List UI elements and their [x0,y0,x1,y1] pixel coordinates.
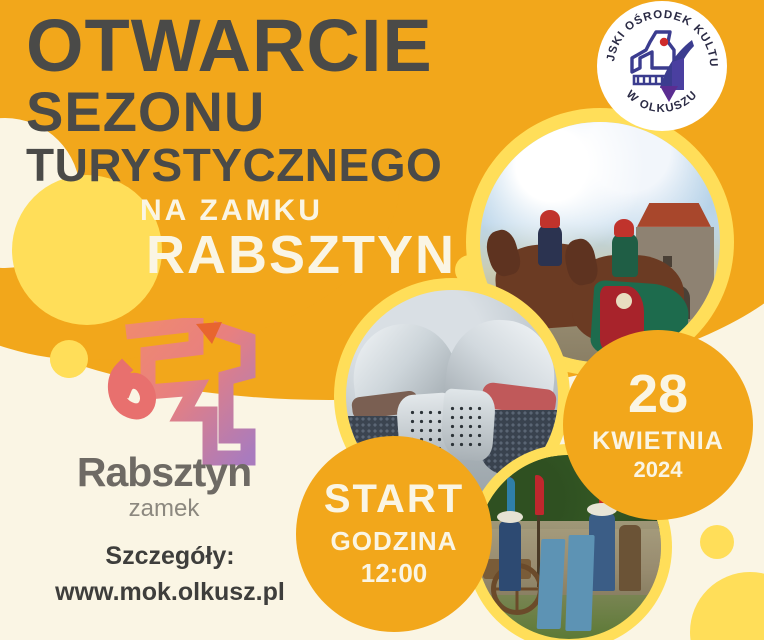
decor-circle-small-left-front [50,340,88,378]
headline-line-2: SEZONU [26,84,265,140]
start-title: START [324,479,464,519]
reenactor-left-icon [499,521,521,591]
rider-right-hat-icon [614,219,634,237]
details-label: Szczegóły: [20,540,320,573]
rider-right-icon [612,233,638,277]
flag-blue-icon [507,477,515,515]
rabsztyn-brand-text: Rabsztyn zamek [36,452,292,524]
details-block: Szczegóły: www.mok.olkusz.pl [20,540,320,608]
flag-red-left-icon [535,475,544,515]
date-day: 28 [628,367,688,421]
start-label: GODZINA [331,525,458,558]
rider-left-hat-icon [540,210,560,228]
reenactor-left-hat-icon [497,511,523,523]
rider-left-icon [538,224,562,266]
mok-castle-emblem-icon [626,28,698,104]
date-year: 2024 [634,457,683,483]
headline-line-1: OTWARCIE [26,10,433,83]
details-url[interactable]: www.mok.olkusz.pl [20,576,320,609]
date-month: KWIETNIA [592,425,724,458]
headline-line-3: TURYSTYCZNEGO [26,142,442,188]
headline-line-5: RABSZTYN [146,228,456,282]
start-time: 12:00 [361,558,428,589]
organizer-logo: MIEJSKI OŚRODEK KULTURY W OLKUSZU [600,4,724,128]
reenactor-right-icon [619,525,641,591]
decor-circle-small-bottom-right [700,525,734,559]
headline-line-4: NA ZAMKU [140,196,323,226]
start-badge: START GODZINA 12:00 [296,436,492,632]
rabsztyn-brand-subtitle: zamek [36,495,292,524]
poster-canvas: OTWARCIE SEZONU TURYSTYCZNEGO NA ZAMKU R… [0,0,764,640]
shield-left-icon [537,539,566,629]
date-badge: 28 KWIETNIA 2024 [563,330,753,520]
shield-right-icon [565,535,594,631]
rabsztyn-brand-name: Rabsztyn [36,452,292,493]
